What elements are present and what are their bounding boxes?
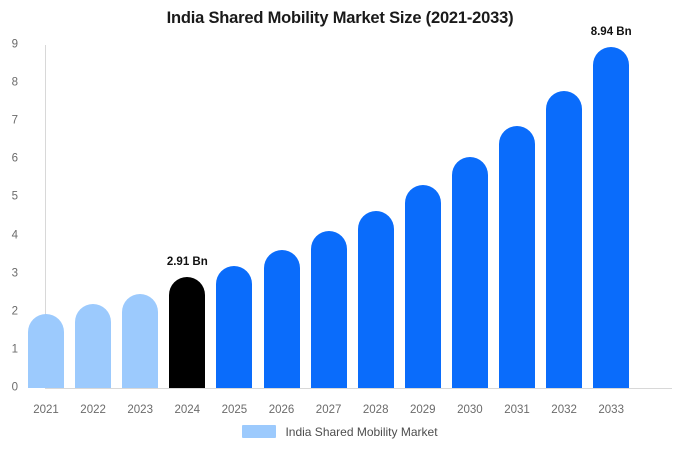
bar-value-label: 8.94 Bn — [566, 27, 656, 39]
bar[interactable] — [405, 185, 441, 388]
bar[interactable] — [358, 211, 394, 388]
bars-layer: 2.91 Bn8.94 Bn — [0, 0, 680, 400]
bar[interactable] — [75, 304, 111, 388]
plot-area: 0123456789 2.91 Bn8.94 Bn — [0, 0, 680, 400]
bar-chart: India Shared Mobility Market Size (2021-… — [0, 0, 680, 450]
bar[interactable] — [593, 47, 629, 388]
legend-color-swatch — [242, 425, 276, 438]
bar[interactable] — [122, 294, 158, 389]
x-axis-tick-label: 2033 — [581, 405, 641, 417]
bar[interactable] — [264, 250, 300, 388]
chart-legend: India Shared Mobility Market — [0, 425, 680, 438]
bar[interactable] — [28, 314, 64, 388]
bar[interactable] — [452, 157, 488, 388]
bar-value-label: 2.91 Bn — [142, 257, 232, 269]
bar[interactable] — [499, 126, 535, 388]
legend-label: India Shared Mobility Market — [285, 426, 437, 438]
bar[interactable] — [546, 91, 582, 388]
x-axis-tick-labels: 2021202220232024202520262027202820292030… — [0, 398, 680, 418]
bar[interactable] — [216, 266, 252, 388]
bar[interactable] — [311, 231, 347, 388]
bar[interactable] — [169, 277, 205, 388]
